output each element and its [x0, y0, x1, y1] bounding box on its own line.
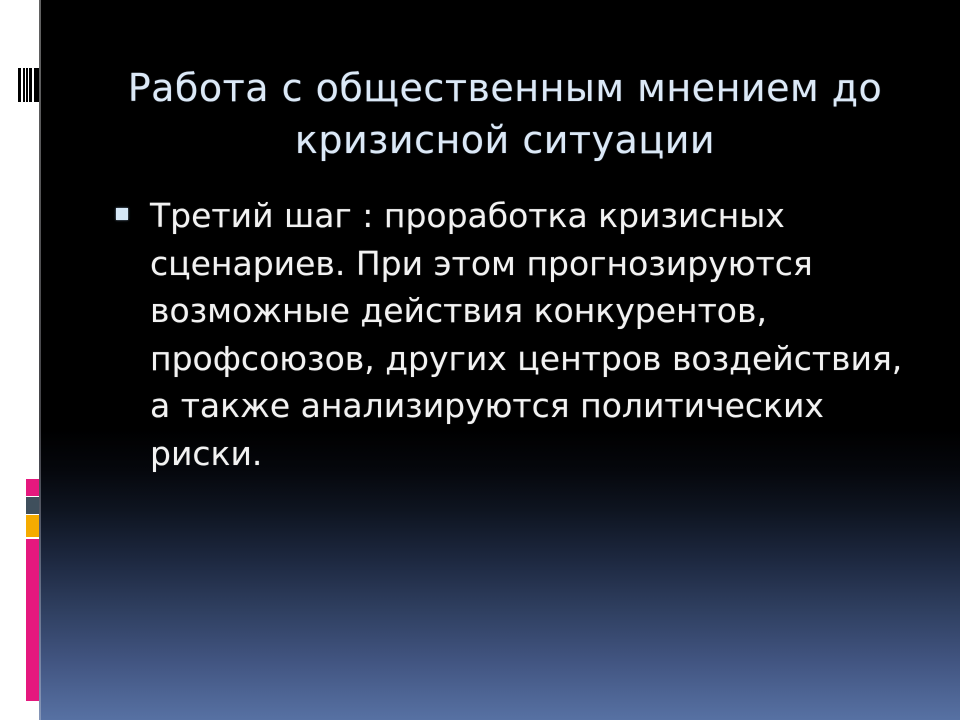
barcode-stripe — [34, 68, 39, 102]
left-sidebar-edge — [39, 0, 41, 720]
presentation-slide: Работа с общественным мнением до кризисн… — [0, 0, 960, 720]
accent-bar-magenta-top — [26, 479, 39, 496]
slide-title: Работа с общественным мнением до кризисн… — [110, 62, 900, 166]
bullet-square-icon — [116, 208, 128, 220]
accent-bar-slate — [26, 497, 39, 514]
bullet-item-text: Третий шаг : проработка кризисных сценар… — [150, 192, 912, 477]
accent-bar-magenta-long — [26, 539, 39, 701]
bullet-list-item: Третий шаг : проработка кризисных сценар… — [112, 192, 912, 477]
slide-body: Третий шаг : проработка кризисных сценар… — [112, 192, 912, 477]
barcode-icon — [18, 68, 39, 102]
accent-bar-amber — [26, 515, 39, 537]
